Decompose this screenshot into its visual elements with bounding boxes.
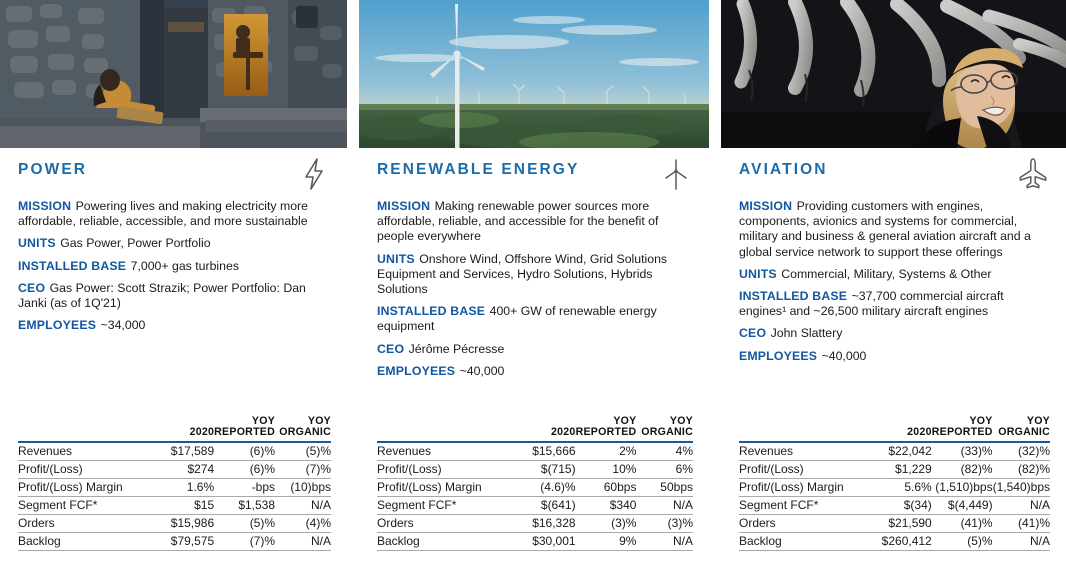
field-units: UNITS Commercial, Military, Systems & Ot… [739, 267, 1050, 282]
airplane-icon [1016, 156, 1050, 192]
field-units: UNITS Onshore Wind, Offshore Wind, Grid … [377, 252, 693, 298]
col-yoy-organic: YOYORGANIC [636, 416, 693, 442]
page-title-renewable-energy: RENEWABLE ENERGY [377, 162, 579, 178]
lightning-bolt-icon [297, 156, 331, 192]
table-row: Segment FCF*$(641)$340N/A [377, 497, 693, 515]
field-mission: MISSION Providing customers with engines… [739, 199, 1050, 260]
col-yoy-reported: YOYREPORTED [576, 416, 637, 442]
table-row: Profit/(Loss) Margin1.6%-bps(10)bps [18, 479, 331, 497]
power-header: POWER [0, 148, 347, 192]
segment-card-renewable-energy: RENEWABLE ENERGY MISSION Making renewabl… [359, 0, 709, 562]
col-yoy-organic: YOYORGANIC [993, 416, 1050, 442]
aviation-info: MISSION Providing customers with engines… [721, 192, 1066, 364]
field-mission: MISSION Powering lives and making electr… [18, 199, 331, 229]
table-row: Profit/(Loss) Margin(4.6)%60bps50bps [377, 479, 693, 497]
aviation-header: AVIATION [721, 148, 1066, 192]
aviation-metrics-table: 2020 YOYREPORTED YOYORGANIC Revenues$22,… [739, 416, 1050, 551]
table-row: Profit/(Loss)$1,229(82)%(82)% [739, 461, 1050, 479]
table-row: Profit/(Loss)$274(6)%(7)% [18, 461, 331, 479]
field-employees: EMPLOYEES ~34,000 [18, 318, 331, 333]
table-row: Profit/(Loss) Margin5.6%(1,510)bps(1,540… [739, 479, 1050, 497]
table-row: Profit/(Loss)$(715)10%6% [377, 461, 693, 479]
table-row: Segment FCF*$15$1,538N/A [18, 497, 331, 515]
field-ceo: CEO Gas Power: Scott Strazik; Power Port… [18, 281, 331, 311]
col-2020: 2020 [517, 416, 576, 442]
table-row: Backlog$30,0019%N/A [377, 533, 693, 551]
field-installed-base: INSTALLED BASE 7,000+ gas turbines [18, 259, 331, 274]
table-row: Orders$16,328(3)%(3)% [377, 515, 693, 533]
col-2020: 2020 [874, 416, 932, 442]
col-metric [18, 416, 156, 442]
field-units: UNITS Gas Power, Power Portfolio [18, 236, 331, 251]
power-photo [0, 0, 347, 148]
field-employees: EMPLOYEES ~40,000 [377, 364, 693, 379]
page-title-power: POWER [18, 162, 87, 178]
table-row: Revenues$22,042(33)%(32)% [739, 442, 1050, 461]
col-yoy-reported: YOYREPORTED [214, 416, 275, 442]
segment-card-power: POWER MISSION Powering lives and making … [0, 0, 347, 562]
col-metric [739, 416, 874, 442]
power-metrics-table: 2020 YOYREPORTED YOYORGANIC Revenues$17,… [18, 416, 331, 551]
table-row: Backlog$260,412(5)%N/A [739, 533, 1050, 551]
page-title-aviation: AVIATION [739, 162, 828, 178]
field-installed-base: INSTALLED BASE ~37,700 commercial aircra… [739, 289, 1050, 319]
col-yoy-organic: YOYORGANIC [275, 416, 331, 442]
table-row: Revenues$17,589(6)%(5)% [18, 442, 331, 461]
renewable-energy-metrics-table: 2020 YOYREPORTED YOYORGANIC Revenues$15,… [377, 416, 693, 551]
field-ceo: CEO Jérôme Pécresse [377, 342, 693, 357]
table-row: Orders$15,986(5)%(4)% [18, 515, 331, 533]
field-installed-base: INSTALLED BASE 400+ GW of renewable ener… [377, 304, 693, 334]
power-info: MISSION Powering lives and making electr… [0, 192, 347, 333]
segment-card-aviation: AVIATION MISSION Providing customers wit… [721, 0, 1066, 562]
col-yoy-reported: YOYREPORTED [932, 416, 993, 442]
renewable-energy-info: MISSION Making renewable power sources m… [359, 192, 709, 379]
table-row: Orders$21,590(41)%(41)% [739, 515, 1050, 533]
field-employees: EMPLOYEES ~40,000 [739, 349, 1050, 364]
col-2020: 2020 [156, 416, 214, 442]
table-row: Backlog$79,575(7)%N/A [18, 533, 331, 551]
renewable-energy-header: RENEWABLE ENERGY [359, 148, 709, 192]
field-ceo: CEO John Slattery [739, 326, 1050, 341]
col-metric [377, 416, 517, 442]
aviation-photo [721, 0, 1066, 148]
table-row: Revenues$15,6662%4% [377, 442, 693, 461]
field-mission: MISSION Making renewable power sources m… [377, 199, 693, 245]
segment-cards-board: POWER MISSION Powering lives and making … [0, 0, 1066, 562]
renewable-energy-photo [359, 0, 709, 148]
table-row: Segment FCF*$(34)$(4,449)N/A [739, 497, 1050, 515]
wind-turbine-icon [659, 156, 693, 192]
